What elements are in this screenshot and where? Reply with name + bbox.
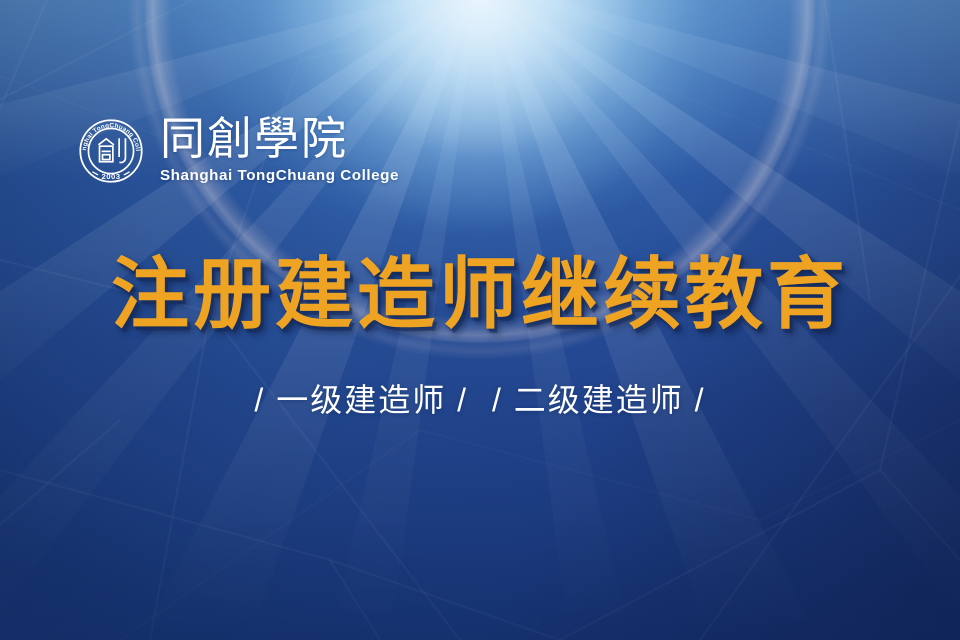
college-seal-icon: Shanghai TongChuang College: [74, 114, 148, 188]
banner-subtitle: / 一级建造师 // 二级建造师 /: [0, 378, 960, 422]
college-logo: Shanghai TongChuang College: [74, 112, 399, 188]
logo-english-name: Shanghai TongChuang College: [160, 166, 399, 185]
logo-wordmark: 同創學院: [160, 113, 399, 165]
subtitle-item-level-two: / 二级建造师 /: [492, 382, 706, 418]
svg-text:2003: 2003: [101, 172, 120, 181]
banner-content: Shanghai TongChuang College: [0, 0, 960, 640]
subtitle-item-level-one: / 一级建造师 /: [254, 382, 468, 418]
promo-banner: Shanghai TongChuang College: [0, 0, 960, 640]
logo-text-block: 同創學院 Shanghai TongChuang College: [160, 112, 399, 185]
banner-title: 注册建造师继续教育: [0, 248, 960, 340]
